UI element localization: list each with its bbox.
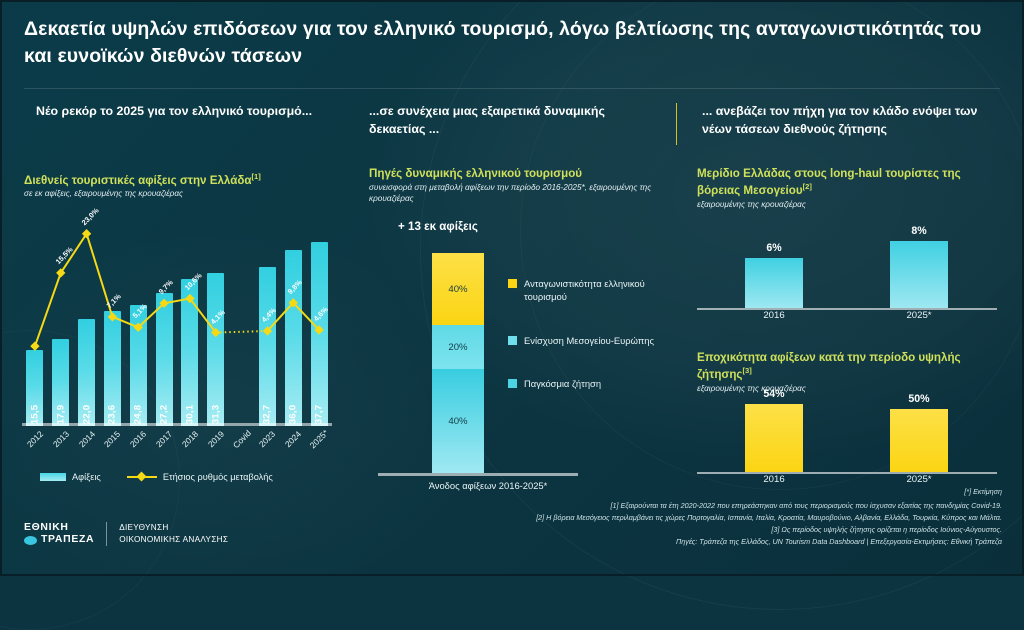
bar-2017: 27,2 (156, 293, 173, 426)
logo-bank: ΕΘΝΙΚΗ ΤΡΑΠΕΖΑ (24, 522, 94, 546)
bar-2023: 32,7 (259, 267, 276, 427)
legend-item-growth: Ετήσιος ρυθμός μεταβολής (127, 472, 273, 482)
chart-title-longhaul: Μερίδιο Ελλάδας στους long-haul τουρίστε… (697, 166, 997, 198)
panel-header-left-text: Νέο ρεκόρ το 2025 για τον ελληνικό τουρι… (36, 103, 312, 121)
panel-header-right: ... ανεβάζει τον πήχη για τον κλάδο ενόψ… (688, 103, 993, 145)
bar-value-label: 31,3 (210, 405, 221, 424)
bar-value-label: 27,2 (159, 405, 170, 424)
chart-title-arrivals: Διεθνείς τουριστικές αφίξεις στην Ελλάδα… (24, 172, 324, 189)
logo-department: ΔΙΕΥΘΥΝΣΗ ΟΙΚΟΝΟΜΙΚΗΣ ΑΝΑΛΥΣΗΣ (119, 522, 228, 546)
bar-2025: 50% (890, 409, 948, 472)
bar-2016: 6% (745, 258, 803, 308)
square-swatch-icon (508, 336, 517, 345)
panel-header-left: Νέο ρεκόρ το 2025 για τον ελληνικό τουρι… (22, 103, 322, 145)
panel-header-middle: ...σε συνέχεια μιας εξαιρετικά δυναμικής… (355, 103, 655, 145)
bar-value-label: 24,8 (133, 405, 144, 424)
legend-item-global-demand: Παγκόσμια ζήτηση (508, 377, 668, 390)
bar-value-label: 22,0 (81, 405, 92, 424)
footnote-1: [1] Εξαιρούνται τα έτη 2020-2022 που επη… (282, 500, 1002, 512)
panel-header-middle-text: ...σε συνέχεια μιας εξαιρετικά δυναμικής… (369, 103, 655, 138)
x-tick-2013: 2013 (48, 426, 73, 451)
bar-value-label: 15,5 (29, 405, 40, 424)
x-label-2025: 2025* (906, 310, 931, 321)
panel-header-right-text: ... ανεβάζει τον πήχη για τον κλάδο ενόψ… (702, 103, 993, 138)
chart-subtitle-arrivals: σε εκ αφίξεις, εξαιρουμένης της κρουαζιέ… (24, 188, 324, 199)
x-tick-Covid: Covid (229, 426, 254, 451)
bar-column: 30,1 (177, 226, 203, 426)
x-tick-2012: 2012 (22, 426, 47, 451)
footnote-estimate: [*] Εκτίμηση (964, 487, 1002, 496)
bar-value-label: 32,7 (262, 405, 273, 424)
bar-2015: 23,6 (104, 311, 121, 426)
x-axis (22, 423, 332, 426)
chart-subtitle-drivers: συνεισφορά στη μεταβολή αφίξεων την περί… (369, 182, 659, 205)
x-label-2025: 2025* (906, 474, 931, 485)
square-swatch-icon (508, 379, 517, 388)
bar-swatch-icon (40, 473, 66, 481)
x-label-2016: 2016 (763, 310, 784, 321)
logo-line2: ΤΡΑΠΕΖΑ (24, 534, 94, 546)
stack-segment-competitiveness: 40% (432, 253, 484, 325)
legend-item-arrivals: Αφίξεις (40, 472, 101, 482)
square-swatch-icon (508, 279, 517, 288)
bar-column: 27,2 (151, 226, 177, 426)
footnote-2: [2] Η βόρεια Μεσόγειος περιλαμβάνει τις … (162, 512, 1002, 524)
x-tick-2019: 2019 (203, 426, 228, 451)
bar-2014: 22,0 (78, 319, 95, 426)
line-swatch-icon (127, 472, 157, 482)
bar-value-label: 37,7 (314, 405, 325, 424)
panel-divider (676, 103, 677, 145)
chart-longhaul-share: 6% 8% 2016 2025* (697, 218, 997, 308)
bar-column: 31,3 (203, 226, 229, 426)
bar-column: 23,6 (99, 226, 125, 426)
chart-arrivals: 15,517,922,023,624,827,230,131,332,736,0… (22, 206, 332, 426)
footnote-3: [3] Ως περίοδος υψηλής ζήτησης ορίζεται … (242, 524, 1002, 536)
bar-value-label: 30,1 (184, 405, 195, 424)
bar-2024: 36,0 (285, 250, 302, 426)
growth-rate-label: 23,0% (79, 206, 100, 227)
x-axis-longhaul (697, 308, 997, 311)
bar-2025: 8% (890, 241, 948, 308)
chart-title-drivers: Πηγές δυναμικής ελληνικού τουρισμού (369, 166, 669, 182)
x-tick-2016: 2016 (126, 426, 151, 451)
x-tick-2018: 2018 (177, 426, 202, 451)
legend-drivers: Ανταγωνιστικότητα ελληνικού τουρισμού Εν… (508, 277, 668, 420)
logo-mark-icon (24, 536, 37, 545)
x-tick-2025*: 2025* (306, 426, 331, 451)
x-tick-2014: 2014 (74, 426, 99, 451)
legend-item-med-europe: Ενίσχυση Μεσογείου-Ευρώπης (508, 334, 668, 347)
bar-2012: 15,5 (26, 350, 43, 426)
bar-column: 37,7 (306, 226, 332, 426)
x-axis-label-drivers: Άνοδος αφίξεων 2016-2025* (383, 480, 593, 491)
bar-value-label: 17,9 (55, 405, 66, 424)
drivers-annotation: + 13 εκ αφίξεις (398, 220, 478, 233)
header-divider (24, 88, 1000, 89)
legend-arrivals: Αφίξεις Ετήσιος ρυθμός μεταβολής (40, 472, 273, 482)
x-axis-labels: 20122013201420152016201720182019Covid202… (22, 434, 332, 444)
legend-item-competitiveness: Ανταγωνιστικότητα ελληνικού τουρισμού (508, 277, 668, 304)
x-axis-seasonality (697, 472, 997, 475)
bar-column (229, 226, 255, 426)
stack-segment-global-demand: 40% (432, 369, 484, 473)
page-title: Δεκαετία υψηλών επιδόσεων για τον ελληνι… (24, 16, 984, 70)
bar-value-label: 23,6 (107, 405, 118, 424)
x-tick-2023: 2023 (255, 426, 280, 451)
logo: ΕΘΝΙΚΗ ΤΡΑΠΕΖΑ ΔΙΕΥΘΥΝΣΗ ΟΙΚΟΝΟΜΙΚΗΣ ΑΝΑ… (24, 522, 228, 546)
chart-seasonality: 54% 50% 2016 2025* (697, 400, 997, 472)
logo-divider (106, 522, 107, 546)
bar-value-label: 36,0 (288, 405, 299, 424)
x-tick-2017: 2017 (151, 426, 176, 451)
bar-2018: 30,1 (181, 279, 198, 426)
infographic-canvas: Δεκαετία υψηλών επιδόσεων για τον ελληνι… (0, 0, 1024, 576)
bar-column: 32,7 (254, 226, 280, 426)
bar-2019: 31,3 (207, 273, 224, 426)
x-axis-drivers (378, 473, 578, 476)
bar-2016: 24,8 (130, 305, 147, 426)
bar-2016: 54% (745, 404, 803, 472)
x-tick-2024: 2024 (281, 426, 306, 451)
x-tick-2015: 2015 (100, 426, 125, 451)
bar-column: 24,8 (125, 226, 151, 426)
logo-line1: ΕΘΝΙΚΗ (24, 522, 94, 534)
chart-subtitle-longhaul: εξαιρουμένης της κρουαζιέρας (697, 199, 987, 210)
bar-column: 36,0 (280, 226, 306, 426)
chart-title-seasonality: Εποχικότητα αφίξεων κατά την περίοδο υψη… (697, 350, 997, 382)
stacked-bar-drivers: 40% 20% 40% (432, 253, 484, 473)
footnote-sources: Πηγές: Τράπεζα της Ελλάδος, UN Tourism D… (242, 536, 1002, 548)
bar-column: 15,5 (22, 226, 48, 426)
bar-2025*: 37,7 (311, 242, 328, 426)
chart-subtitle-seasonality: εξαιρουμένης της κρουαζιέρας (697, 383, 987, 394)
bar-column: 22,0 (74, 226, 100, 426)
stack-segment-med-europe: 20% (432, 325, 484, 369)
x-label-2016: 2016 (763, 474, 784, 485)
bar-2013: 17,9 (52, 339, 69, 426)
